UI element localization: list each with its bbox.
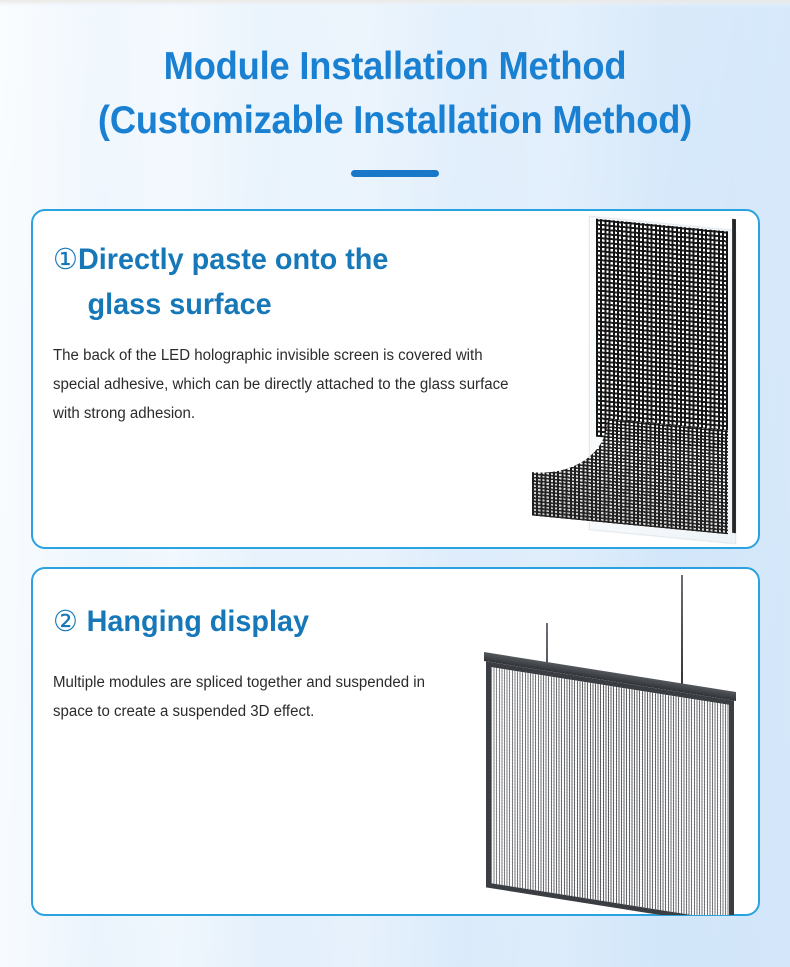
glass-panel-edge [732,219,736,533]
title-underline-bar [351,170,439,177]
circled-number-1-icon: ① [53,242,78,276]
card-1-heading: ①Directly paste onto the glass surface [53,237,504,327]
card-2-heading: ②Hanging display [53,599,504,644]
led-panel-mesh-texture [491,667,729,915]
suspension-cable-right [681,575,683,691]
page-title-line-1: Module Installation Method [28,40,763,94]
led-panel-body [486,661,734,915]
led-mesh-curved-section [532,412,728,535]
card-2-heading-line-1: Hanging display [86,605,308,638]
page-title-line-2: (Customizable Installation Method) [28,94,763,148]
led-mesh-flat-section [596,219,728,450]
page-header: Module Installation Method (Customizable… [0,0,790,177]
curved-led-mesh-on-glass-panel-image [516,211,766,551]
card-2-body-text: Multiple modules are spliced together an… [53,668,441,726]
page-root: Module Installation Method (Customizable… [0,0,790,967]
card-1-text-block: ①Directly paste onto the glass surface T… [53,237,523,428]
install-method-card-1[interactable]: ①Directly paste onto the glass surface T… [31,209,760,549]
cards-container: ①Directly paste onto the glass surface T… [0,209,790,916]
led-mesh-group [596,225,728,525]
circled-number-2-icon: ② [53,604,78,638]
card-2-text-block: ②Hanging display Multiple modules are sp… [53,599,523,726]
card-1-body-text: The back of the LED holographic invisibl… [53,341,509,428]
install-method-card-2[interactable]: ②Hanging display Multiple modules are sp… [31,567,760,916]
card-1-heading-line-1: Directly paste onto the [77,243,387,276]
card-1-heading-line-2: glass surface [53,282,504,327]
hanging-transparent-led-panel-image [474,575,764,915]
